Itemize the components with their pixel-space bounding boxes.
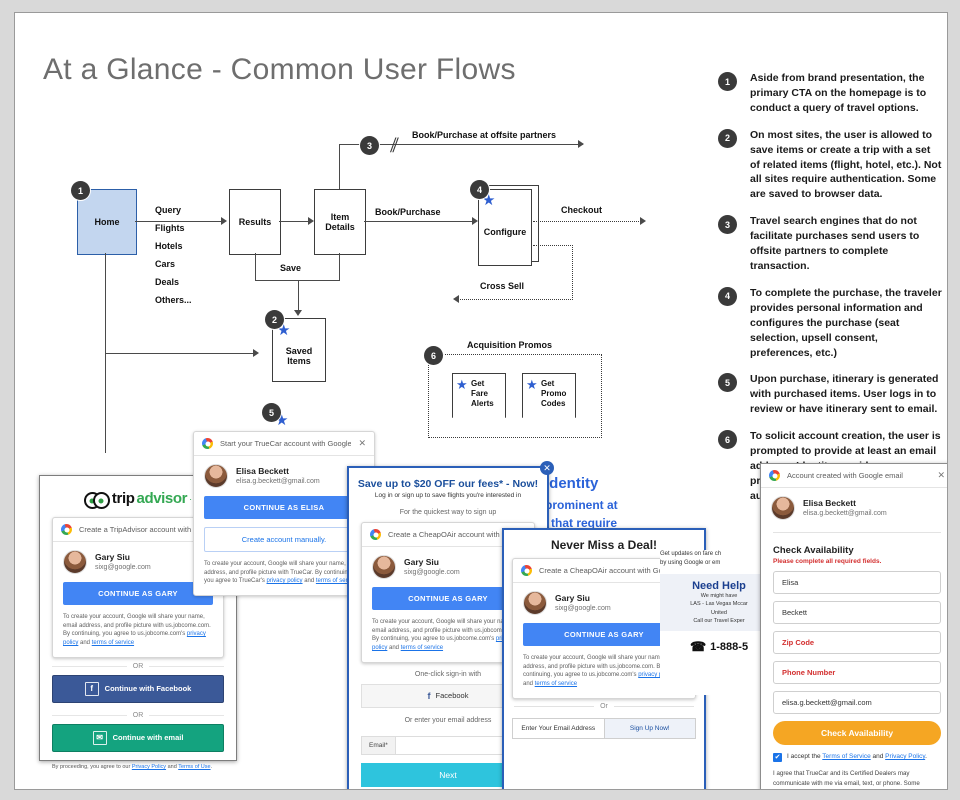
truecar-check-availability-button[interactable]: Check Availability <box>773 721 941 745</box>
edge-home-saved <box>105 353 255 354</box>
edge-crosssell-bottom <box>458 299 573 300</box>
badge-4: 4 <box>470 180 489 199</box>
screenshot-root: At a Glance - Common User Flows Home 1 Q… <box>0 0 960 800</box>
annotation-text: On most sites, the user is allowed to sa… <box>750 128 942 203</box>
need-help-phone-number: 1-888-5 <box>710 641 748 653</box>
annotation-number: 1 <box>718 72 737 91</box>
need-help-sub3: United <box>664 609 774 617</box>
tripadvisor-fineprint-and: and <box>78 640 91 646</box>
flow-node-home-label: Home <box>94 217 119 227</box>
owl-icon <box>84 492 110 505</box>
edge-results-item <box>279 221 310 222</box>
star-icon-promo-codes: ★ <box>526 378 538 391</box>
avatar <box>771 496 795 520</box>
truecar-small-header: Start your TrueCar account with Google ✕ <box>194 432 374 456</box>
arrow-home-saved <box>253 349 259 357</box>
promo-promo-codes-label: Get Promo Codes <box>541 379 566 409</box>
cheapoair-fineprint-and: and <box>387 645 400 651</box>
truecar-error-text: Please complete all required fields. <box>761 556 948 571</box>
truecar-small-continue-button[interactable]: CONTINUE AS ELISA <box>204 496 364 519</box>
truecar-first-name-input[interactable]: Elisa <box>773 571 941 594</box>
arrow-checkout <box>640 217 646 225</box>
cheapoair-user-email: sixg@google.com <box>404 568 460 577</box>
edge-crosssell-top <box>533 245 573 246</box>
tripadvisor-terms-link[interactable]: terms of service <box>92 640 134 646</box>
flow-node-configure-label: Configure <box>484 217 527 237</box>
flow-diagram: Home 1 Query Flights Hotels Cars Deals O… <box>15 13 705 433</box>
edge-item-up <box>339 144 340 189</box>
query-item-deals: Deals <box>155 277 179 287</box>
avatar <box>372 555 396 579</box>
facebook-icon: f <box>428 691 431 701</box>
truecar-large-user-name: Elisa Beckett <box>803 498 887 509</box>
edge-save-down <box>298 280 299 312</box>
annotations-list: 1 Aside from brand presentation, the pri… <box>712 71 942 516</box>
truecar-small-user-name: Elisa Beckett <box>236 466 320 477</box>
annotation-item: 4 To complete the purchase, the traveler… <box>712 286 942 361</box>
close-icon[interactable]: ✕ <box>937 470 945 481</box>
annotation-item: 1 Aside from brand presentation, the pri… <box>712 71 942 116</box>
cheapoair-headline: Save up to $20 OFF our fees* - Now! <box>349 468 547 492</box>
avatar <box>523 591 547 615</box>
truecar-consent-and: and <box>871 753 885 760</box>
avatar <box>204 464 228 488</box>
badge-6: 6 <box>424 346 443 365</box>
tripadvisor-footer-end: . <box>211 764 213 770</box>
hidden-text-identity: identity <box>545 475 598 492</box>
truecar-large-user-row: Elisa Beckett elisa.g.beckett@gmail.com <box>761 488 948 528</box>
truecar-privacy-link[interactable]: Privacy Policy <box>885 753 925 760</box>
query-item-others: Others... <box>155 295 192 305</box>
arrow-home-results <box>221 217 227 225</box>
tripadvisor-user-name: Gary Siu <box>95 552 151 563</box>
close-icon[interactable]: ✕ <box>358 438 366 449</box>
truecar-small-user-email: elisa.g.beckett@gmail.com <box>236 477 320 486</box>
annotation-item: 5 Upon purchase, itinerary is generated … <box>712 372 942 417</box>
or-label: Or <box>600 703 608 710</box>
annotation-text: To complete the purchase, the traveler p… <box>750 286 942 361</box>
edge-home-results <box>135 221 223 222</box>
truecar-consent-row[interactable]: ✔ I accept the Terms of Service and Priv… <box>761 753 948 769</box>
truecar-small-title: Start your TrueCar account with Google <box>220 439 351 448</box>
annotation-number: 6 <box>718 430 737 449</box>
cheapoair-facebook-label: Facebook <box>436 691 469 700</box>
google-g-icon <box>61 524 72 535</box>
checkbox-checked-icon[interactable]: ✔ <box>773 753 782 762</box>
never-miss-terms-link[interactable]: terms of service <box>535 681 577 687</box>
never-miss-signup-button[interactable]: Sign Up Now! <box>605 718 697 739</box>
annotation-item: 2 On most sites, the user is allowed to … <box>712 128 942 203</box>
edge-label-offsite: Book/Purchase at offsite partners <box>412 130 556 140</box>
truecar-large-title: Account created with Google email <box>787 471 930 480</box>
google-g-icon <box>202 438 213 449</box>
edge-item-configure <box>364 221 474 222</box>
annotation-number: 5 <box>718 373 737 392</box>
need-help-sub4: Call our Travel Exper <box>664 617 774 625</box>
acquisition-promos-label: Acquisition Promos <box>467 340 552 350</box>
tripadvisor-footer-terms-link[interactable]: Terms of Use <box>178 764 210 770</box>
tripadvisor-footer-and: and <box>166 764 178 770</box>
tripadvisor-email-button[interactable]: ✉ Continue with email <box>52 724 224 752</box>
truecar-large-header: Account created with Google email ✕ <box>761 464 948 488</box>
flow-node-item-details[interactable]: Item Details <box>314 189 366 255</box>
tripadvisor-continue-button[interactable]: CONTINUE AS GARY <box>63 582 213 605</box>
cheapoair-quickest-label: For the quickest way to sign up <box>349 507 547 522</box>
never-miss-email-input[interactable]: Enter Your Email Address <box>512 718 605 739</box>
edge-checkout <box>533 221 643 222</box>
never-miss-user-email: sixg@google.com <box>555 604 611 613</box>
annotation-number: 3 <box>718 215 737 234</box>
truecar-phone-number-input[interactable]: Phone Number <box>773 661 941 684</box>
query-item-cars: Cars <box>155 259 175 269</box>
edge-label-cross-sell: Cross Sell <box>480 281 524 291</box>
or-label: OR <box>127 663 150 670</box>
google-g-icon <box>370 529 381 540</box>
truecar-email-input[interactable]: elisa.g.beckett@gmail.com <box>773 691 941 714</box>
never-miss-fineprint-and: and <box>523 681 535 687</box>
star-icon-fare-alerts: ★ <box>456 378 468 391</box>
slide-canvas: At a Glance - Common User Flows Home 1 Q… <box>14 12 948 790</box>
divider <box>773 532 941 533</box>
need-help-sub1: We might have <box>664 592 774 600</box>
google-g-icon <box>521 565 532 576</box>
edge-crosssell-right <box>572 245 573 300</box>
avatar <box>63 550 87 574</box>
truecar-last-name-input[interactable]: Beckett <box>773 601 941 624</box>
tripadvisor-or-divider-2: OR <box>40 707 236 724</box>
truecar-consent-pre: I accept the <box>787 753 822 760</box>
cheapoair-user-name: Gary Siu <box>404 557 460 568</box>
annotation-item: 3 Travel search engines that do not faci… <box>712 214 942 274</box>
query-item-hotels: Hotels <box>155 241 183 251</box>
annotation-number: 2 <box>718 129 737 148</box>
cheapoair-terms-link[interactable]: terms of service <box>401 645 443 651</box>
flow-node-item-details-label: Item Details <box>325 212 355 233</box>
need-help-heading: Need Help <box>664 580 774 592</box>
annotation-text: Aside from brand presentation, the prima… <box>750 71 942 116</box>
tripadvisor-fineprint: To create your account, Google will shar… <box>53 613 223 657</box>
promo-fare-alerts-label: Get Fare Alerts <box>471 379 494 409</box>
facebook-icon: f <box>85 682 99 696</box>
annotation-text: Travel search engines that do not facili… <box>750 214 942 274</box>
tripadvisor-logo-trip: trip <box>112 490 135 507</box>
badge-2: 2 <box>265 310 284 329</box>
tripadvisor-facebook-label: Continue with Facebook <box>105 684 192 693</box>
arrow-crosssell <box>453 295 459 303</box>
badge-5: 5 <box>262 403 281 422</box>
google-g-icon <box>769 470 780 481</box>
cheapoair-email-label: Email* <box>362 737 396 754</box>
edge-label-book-purchase: Book/Purchase <box>375 207 441 217</box>
truecar-small-manual-button[interactable]: Create account manually. <box>204 527 364 552</box>
never-miss-or-divider: Or <box>504 699 704 714</box>
edge-label-query: Query <box>155 205 181 215</box>
truecar-small-fineprint-and: and <box>303 578 316 584</box>
truecar-large-user-email: elisa.g.beckett@gmail.com <box>803 509 887 518</box>
edge-item-down <box>339 253 340 281</box>
edge-offsite-top2 <box>405 144 583 145</box>
flow-node-results-label: Results <box>239 217 272 227</box>
annotation-text: Upon purchase, itinerary is generated wi… <box>750 372 942 417</box>
truecar-legal-text: I agree that TrueCar and its Certified D… <box>761 769 948 790</box>
annotation-number: 4 <box>718 287 737 306</box>
query-item-flights: Flights <box>155 223 185 233</box>
flow-node-home[interactable]: Home <box>77 189 137 255</box>
edge-label-checkout: Checkout <box>561 205 602 215</box>
tripadvisor-footer-privacy-link[interactable]: Privacy Policy <box>132 764 166 770</box>
truecar-zip-code-input[interactable]: Zip Code <box>773 631 941 654</box>
truecar-terms-link[interactable]: Terms of Service <box>822 753 870 760</box>
truecar-section-title: Check Availability <box>761 537 948 556</box>
truecar-large-panel: Account created with Google email ✕ Elis… <box>760 463 948 790</box>
never-miss-user-name: Gary Siu <box>555 593 611 604</box>
badge-3: 3 <box>360 136 379 155</box>
tripadvisor-logo-dot: · <box>189 494 192 504</box>
truecar-consent-end: . <box>925 753 927 760</box>
envelope-icon: ✉ <box>93 731 107 745</box>
need-help-sub2: LAS - Las Vegas Mccar <box>664 600 774 608</box>
or-label: OR <box>127 712 150 719</box>
cheapoair-subhead: Log in or sign up to save flights you're… <box>349 492 547 507</box>
tripadvisor-or-divider-1: OR <box>40 658 236 675</box>
headset-icon: ☎ <box>690 639 706 655</box>
edge-label-save: Save <box>280 263 301 273</box>
tripadvisor-footer-text: By proceeding, you agree to our <box>52 764 132 770</box>
tripadvisor-logo-advisor: advisor <box>137 490 188 507</box>
badge-1: 1 <box>71 181 90 200</box>
never-miss-signup-row: Enter Your Email Address Sign Up Now! <box>512 718 696 739</box>
arrow-save-down <box>294 310 302 316</box>
tripadvisor-email-label: Continue with email <box>113 733 184 742</box>
cheapoair-close-button[interactable]: ✕ <box>540 461 554 475</box>
truecar-small-privacy-link[interactable]: privacy policy <box>267 578 303 584</box>
tripadvisor-user-email: sixg@google.com <box>95 563 151 572</box>
flow-node-results[interactable]: Results <box>229 189 281 255</box>
tripadvisor-facebook-button[interactable]: f Continue with Facebook <box>52 675 224 703</box>
tripadvisor-footer: By proceeding, you agree to our Privacy … <box>40 756 236 770</box>
edge-results-down <box>255 253 256 281</box>
hidden-text-prominent: prominent at <box>545 498 618 512</box>
